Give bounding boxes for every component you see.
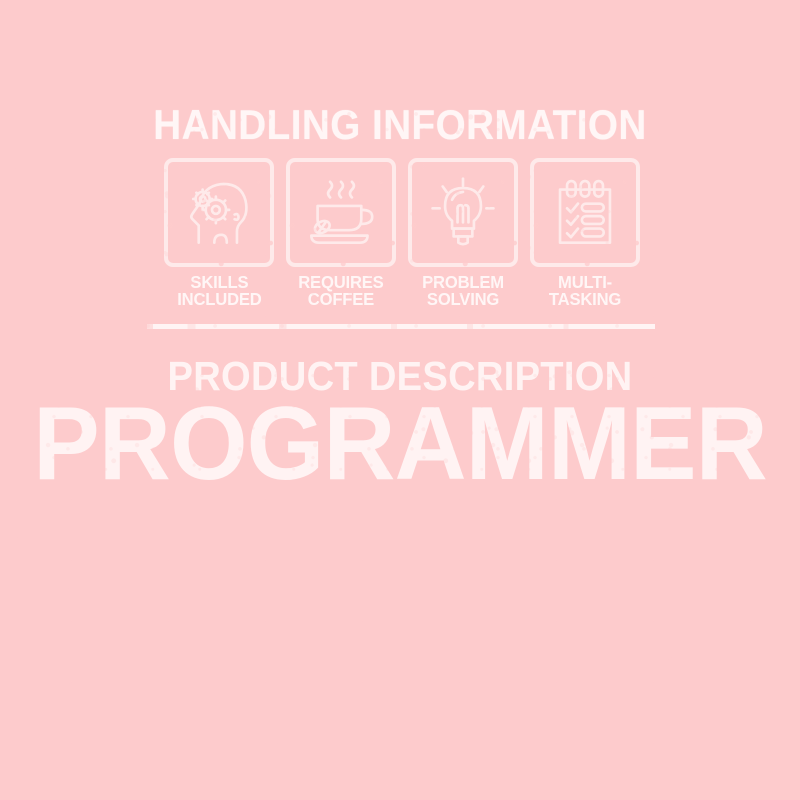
checklist-notepad-icon — [546, 174, 624, 252]
feature-label-requires-coffee: REQUIRES COFFEE — [298, 274, 383, 308]
icon-frame — [286, 158, 396, 267]
feature-icon-grid: SKILLS INCLUDED — [163, 158, 641, 308]
head-with-gears-icon — [180, 174, 258, 252]
poster-artboard: HANDLING INFORMATION — [0, 0, 800, 800]
feature-item-requires-coffee: REQUIRES COFFEE — [285, 158, 397, 308]
icon-frame — [408, 158, 518, 267]
feature-item-skills-included: SKILLS INCLUDED — [163, 158, 275, 308]
icon-frame — [530, 158, 640, 267]
lightbulb-icon — [424, 174, 502, 252]
feature-label-multi-tasking: MULTI- TASKING — [549, 274, 621, 308]
feature-item-multi-tasking: MULTI- TASKING — [529, 158, 641, 308]
main-headline: PROGRAMMER — [16, 392, 784, 496]
feature-label-skills-included: SKILLS INCLUDED — [177, 274, 261, 308]
feature-label-problem-solving: PROBLEM SOLVING — [422, 274, 504, 308]
top-headline: HANDLING INFORMATION — [32, 104, 768, 146]
feature-item-problem-solving: PROBLEM SOLVING — [407, 158, 519, 308]
coffee-cup-icon — [302, 174, 380, 252]
horizontal-divider — [147, 324, 655, 329]
icon-frame — [164, 158, 274, 267]
